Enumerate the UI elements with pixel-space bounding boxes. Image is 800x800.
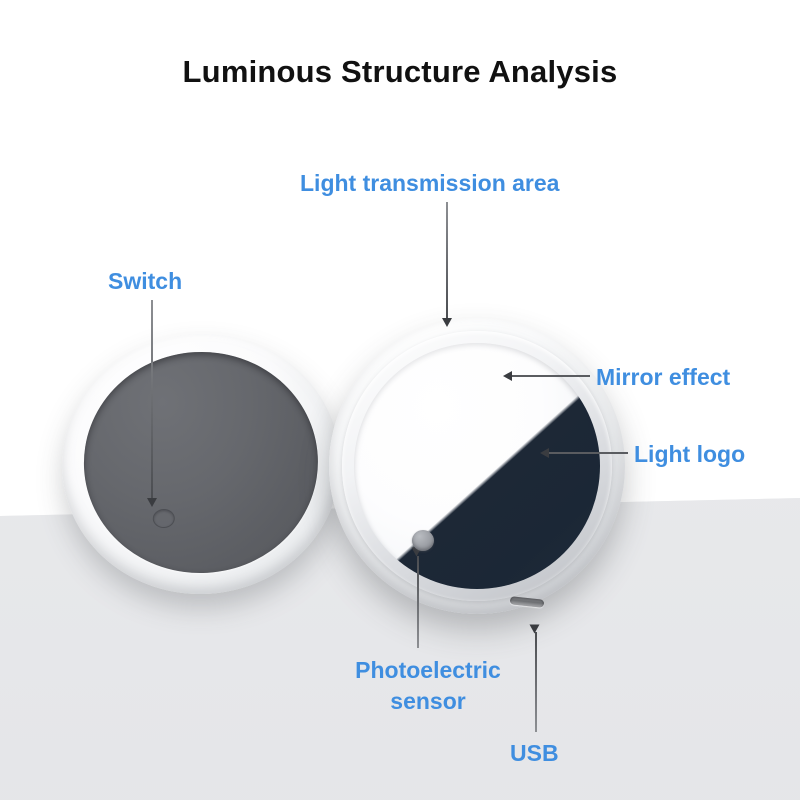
leader-arrow-mirror-effect <box>503 371 512 381</box>
label-photoelectric-sensor-line1: Photoelectric <box>355 657 501 683</box>
label-photoelectric-sensor-line2: sensor <box>390 688 465 714</box>
leader-line-switch <box>151 300 153 500</box>
leader-arrow-light-logo <box>540 448 549 458</box>
right-disc-mirror-face <box>354 343 600 589</box>
label-switch: Switch <box>108 266 182 297</box>
leader-arrow-usb <box>530 625 540 634</box>
page-title: Luminous Structure Analysis <box>0 54 800 90</box>
leader-line-light-transmission-area <box>446 202 448 320</box>
leader-line-light-logo <box>549 452 628 454</box>
product-annotation-diagram: Luminous Structure Analysis Switch Light… <box>0 0 800 800</box>
right-disc-device <box>329 318 625 614</box>
label-photoelectric-sensor: Photoelectric sensor <box>340 655 516 717</box>
leader-line-photoelectric-sensor <box>417 556 419 648</box>
leader-arrow-switch <box>147 498 157 507</box>
photoelectric-sensor-dot[interactable] <box>412 530 434 551</box>
usb-port[interactable] <box>509 596 544 608</box>
mirror-sheen <box>354 343 600 589</box>
leader-line-usb <box>535 632 537 732</box>
switch-button[interactable] <box>152 508 175 528</box>
label-mirror-effect: Mirror effect <box>596 362 730 393</box>
left-disc-face <box>79 346 324 579</box>
label-usb: USB <box>510 738 559 769</box>
leader-arrow-light-transmission-area <box>442 318 452 327</box>
label-light-logo: Light logo <box>634 439 745 470</box>
label-light-transmission-area: Light transmission area <box>300 168 559 199</box>
leader-line-mirror-effect <box>512 375 590 377</box>
